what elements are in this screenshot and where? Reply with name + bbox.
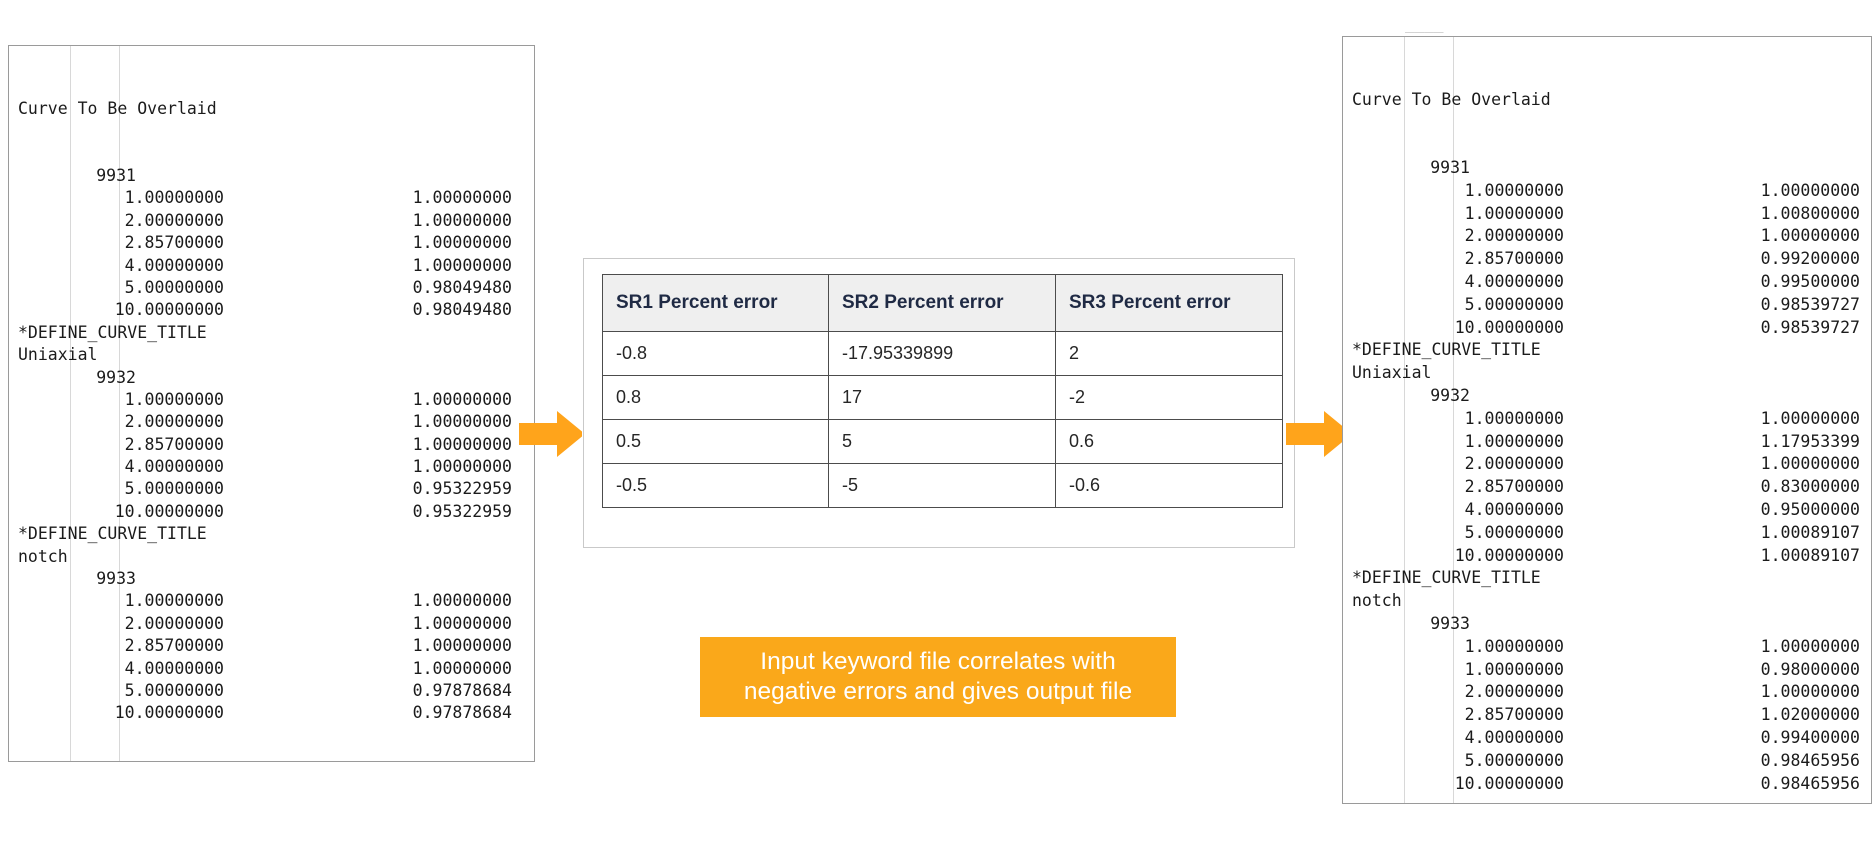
curve-y-value: 1.00089107	[1660, 522, 1860, 545]
table-cell-sr2[interactable]: -17.95339899	[829, 332, 1056, 376]
curve-x-value: 5.00000000	[1352, 294, 1564, 317]
caption-line-2: negative errors and gives output file	[744, 677, 1132, 707]
curve-y-value: 0.99400000	[1660, 727, 1860, 750]
curve-data-row: 2.000000001.00000000	[1352, 453, 1871, 476]
curve-y-value: 1.00000000	[314, 456, 512, 478]
curve-y-value: 0.95000000	[1660, 499, 1860, 522]
table-cell-sr3[interactable]: 0.6	[1056, 420, 1283, 464]
curve-x-value: 2.00000000	[1352, 225, 1564, 248]
curve-data-row: 5.000000001.00089107	[1352, 522, 1871, 545]
curve-x-value: 1.00000000	[1352, 408, 1564, 431]
curve-data-row: 1.000000001.00000000	[1352, 636, 1871, 659]
curve-data-row: 10.000000000.98465956	[1352, 773, 1871, 796]
curve-y-value: 0.98539727	[1660, 317, 1860, 340]
curve-y-value: 1.00000000	[314, 434, 512, 456]
curve-data-row: 1.000000001.00000000	[18, 187, 534, 209]
curve-y-value: 0.83000000	[1660, 476, 1860, 499]
curve-data-row: 1.000000001.17953399	[1352, 431, 1871, 454]
curve-data-row: 2.857000000.83000000	[1352, 476, 1871, 499]
curve-x-value: 4.00000000	[1352, 499, 1564, 522]
curve-id-line: 9933	[1352, 613, 1871, 636]
curve-x-value: 5.00000000	[18, 680, 224, 702]
curve-x-value: 2.00000000	[18, 411, 224, 433]
input-title-line: Curve To Be Overlaid	[18, 98, 534, 120]
curve-x-value: 1.00000000	[18, 389, 224, 411]
curve-x-value: 1.00000000	[1352, 203, 1564, 226]
arrow-right-icon-1	[519, 408, 585, 460]
input-file-text: Curve To Be Overlaid 99311.000000001.000…	[9, 46, 534, 762]
curve-data-row: 2.000000001.00000000	[18, 210, 534, 232]
curve-data-row: 10.000000000.95322959	[18, 501, 534, 523]
curve-y-value: 0.98000000	[1660, 659, 1860, 682]
column-header-sr3[interactable]: SR3 Percent error	[1056, 275, 1283, 332]
curve-x-value: 2.85700000	[1352, 704, 1564, 727]
clipped-text-above-output-panel: ____	[1405, 22, 1525, 35]
output-file-text: Curve To Be Overlaid 99311.000000001.000…	[1343, 37, 1871, 804]
curve-data-row: 5.000000000.98539727	[1352, 294, 1871, 317]
table-cell-sr2[interactable]: 5	[829, 420, 1056, 464]
curve-x-value: 4.00000000	[1352, 271, 1564, 294]
table-cell-sr1[interactable]: -0.5	[603, 464, 829, 508]
curve-x-value: 2.85700000	[18, 434, 224, 456]
curve-x-value: 10.00000000	[18, 501, 224, 523]
curve-y-value: 1.00000000	[314, 187, 512, 209]
curve-y-value: 0.98465956	[1660, 750, 1860, 773]
curve-y-value: 0.97878684	[314, 680, 512, 702]
slide-canvas: Curve To Be Overlaid 99311.000000001.000…	[0, 0, 1872, 842]
table-cell-sr3[interactable]: 2	[1056, 332, 1283, 376]
table-cell-sr1[interactable]: -0.8	[603, 332, 829, 376]
curve-y-value: 0.98049480	[314, 277, 512, 299]
curve-y-value: 1.00000000	[314, 411, 512, 433]
curve-x-value: 2.85700000	[1352, 476, 1564, 499]
curve-id-line: 9932	[1352, 385, 1871, 408]
curve-y-value: 1.00000000	[314, 613, 512, 635]
table-header-row: SR1 Percent error SR2 Percent error SR3 …	[603, 275, 1283, 332]
curve-x-value: 2.00000000	[18, 210, 224, 232]
curve-x-value: 1.00000000	[1352, 180, 1564, 203]
curve-data-row: 4.000000000.95000000	[1352, 499, 1871, 522]
curve-x-value: 1.00000000	[18, 187, 224, 209]
keyword-line: *DEFINE_CURVE_TITLE	[18, 322, 534, 344]
curve-x-value: 1.00000000	[18, 590, 224, 612]
output-keyword-file-panel[interactable]: Curve To Be Overlaid 99311.000000001.000…	[1342, 36, 1872, 804]
curve-x-value: 1.00000000	[1352, 659, 1564, 682]
curve-x-value: 10.00000000	[18, 299, 224, 321]
curve-data-row: 2.857000000.99200000	[1352, 248, 1871, 271]
curve-y-value: 0.97878684	[314, 702, 512, 724]
curve-id-line: 9931	[1352, 157, 1871, 180]
curve-id-line: 9932	[18, 367, 534, 389]
curve-data-row: 5.000000000.97878684	[18, 680, 534, 702]
table-row[interactable]: -0.5-5-0.6	[603, 464, 1283, 508]
curve-y-value: 1.00000000	[314, 255, 512, 277]
curve-y-value: 0.95322959	[314, 501, 512, 523]
curve-y-value: 1.02000000	[1660, 704, 1860, 727]
input-title-text: Curve To Be Overlaid	[18, 99, 217, 118]
table-row[interactable]: -0.8-17.953398992	[603, 332, 1283, 376]
output-title-text: Curve To Be Overlaid	[1352, 90, 1551, 109]
caption-box: Input keyword file correlates with negat…	[700, 637, 1176, 717]
curve-y-value: 0.95322959	[314, 478, 512, 500]
output-title-line: Curve To Be Overlaid	[1352, 89, 1871, 112]
curve-x-value: 1.00000000	[1352, 636, 1564, 659]
curve-y-value: 1.00000000	[1660, 225, 1860, 248]
curve-x-value: 4.00000000	[18, 658, 224, 680]
curve-x-value: 2.85700000	[1352, 248, 1564, 271]
curve-data-row: 5.000000000.98049480	[18, 277, 534, 299]
curve-y-value: 1.00000000	[314, 389, 512, 411]
table-cell-sr3[interactable]: -2	[1056, 376, 1283, 420]
curve-x-value: 10.00000000	[18, 702, 224, 724]
curve-x-value: 2.00000000	[1352, 681, 1564, 704]
curve-y-value: 1.00000000	[314, 658, 512, 680]
curve-data-row: 4.000000000.99500000	[1352, 271, 1871, 294]
curve-data-row: 4.000000000.99400000	[1352, 727, 1871, 750]
curve-data-row: 1.000000001.00000000	[18, 389, 534, 411]
curve-data-row: 5.000000000.98465956	[1352, 750, 1871, 773]
table-cell-sr1[interactable]: 0.8	[603, 376, 829, 420]
curve-data-row: 4.000000001.00000000	[18, 658, 534, 680]
curve-id-line: 9931	[18, 165, 534, 187]
input-keyword-file-panel[interactable]: Curve To Be Overlaid 99311.000000001.000…	[8, 45, 535, 762]
curve-data-row: 2.857000001.02000000	[1352, 704, 1871, 727]
curve-data-row: 2.000000001.00000000	[1352, 681, 1871, 704]
curve-data-row: 2.000000001.00000000	[1352, 225, 1871, 248]
curve-x-value: 5.00000000	[1352, 522, 1564, 545]
curve-data-row: 1.000000001.00800000	[1352, 203, 1871, 226]
keyword-line: *DEFINE_CURVE_TITLE	[18, 523, 534, 545]
curve-data-row: 2.000000001.00000000	[18, 613, 534, 635]
curve-x-value: 5.00000000	[1352, 750, 1564, 773]
curve-x-value: 10.00000000	[1352, 773, 1564, 796]
curve-y-value: 1.00000000	[314, 590, 512, 612]
curve-data-row: 2.857000001.00000000	[18, 635, 534, 657]
curve-y-value: 0.98465956	[1660, 773, 1860, 796]
curve-data-row: 10.000000000.98049480	[18, 299, 534, 321]
curve-data-row: 2.000000001.00000000	[18, 411, 534, 433]
curve-y-value: 0.98049480	[314, 299, 512, 321]
curve-x-value: 4.00000000	[18, 255, 224, 277]
curve-x-value: 10.00000000	[1352, 317, 1564, 340]
curve-data-row: 10.000000000.97878684	[18, 702, 534, 724]
keyword-line: *DEFINE_CURVE_TITLE	[1352, 567, 1871, 590]
curve-y-value: 1.00800000	[1660, 203, 1860, 226]
curve-y-value: 1.00000000	[1660, 408, 1860, 431]
table-cell-sr2[interactable]: -5	[829, 464, 1056, 508]
curve-data-row: 10.000000000.98539727	[1352, 317, 1871, 340]
curve-y-value: 1.00000000	[1660, 681, 1860, 704]
curve-x-value: 2.85700000	[18, 232, 224, 254]
curve-data-row: 1.000000001.00000000	[1352, 180, 1871, 203]
curve-x-value: 2.00000000	[18, 613, 224, 635]
table-cell-sr2[interactable]: 17	[829, 376, 1056, 420]
curve-x-value: 5.00000000	[18, 277, 224, 299]
curve-y-value: 1.00000000	[1660, 636, 1860, 659]
curve-x-value: 10.00000000	[1352, 545, 1564, 568]
curve-data-row: 4.000000001.00000000	[18, 255, 534, 277]
curve-data-row: 1.000000001.00000000	[1352, 408, 1871, 431]
curve-data-row: 5.000000000.95322959	[18, 478, 534, 500]
curve-y-value: 0.99200000	[1660, 248, 1860, 271]
table-row[interactable]: 0.817-2	[603, 376, 1283, 420]
column-header-sr1[interactable]: SR1 Percent error	[603, 275, 829, 332]
curve-x-value: 2.85700000	[18, 635, 224, 657]
table-cell-sr3[interactable]: -0.6	[1056, 464, 1283, 508]
curve-y-value: 1.17953399	[1660, 431, 1860, 454]
curve-data-row: 1.000000000.98000000	[1352, 659, 1871, 682]
curve-title-line: notch	[18, 546, 534, 568]
curve-x-value: 4.00000000	[1352, 727, 1564, 750]
caption-line-1: Input keyword file correlates with	[744, 647, 1132, 677]
curve-x-value: 4.00000000	[18, 456, 224, 478]
keyword-line: *DEFINE_CURVE_TITLE	[1352, 339, 1871, 362]
curve-data-row: 1.000000001.00000000	[18, 590, 534, 612]
curve-data-row: 10.000000001.00089107	[1352, 545, 1871, 568]
curve-y-value: 0.99500000	[1660, 271, 1860, 294]
curve-y-value: 0.98539727	[1660, 294, 1860, 317]
curve-x-value: 5.00000000	[18, 478, 224, 500]
curve-title-line: notch	[1352, 590, 1871, 613]
curve-title-line: Uniaxial	[1352, 362, 1871, 385]
curve-x-value: 1.00000000	[1352, 431, 1564, 454]
curve-y-value: 1.00000000	[314, 232, 512, 254]
table-row[interactable]: 0.550.6	[603, 420, 1283, 464]
curve-data-row: 4.000000001.00000000	[18, 456, 534, 478]
curve-id-line: 9933	[18, 568, 534, 590]
curve-y-value: 1.00089107	[1660, 545, 1860, 568]
curve-data-row: 2.857000001.00000000	[18, 434, 534, 456]
curve-y-value: 1.00000000	[314, 210, 512, 232]
curve-y-value: 1.00000000	[1660, 453, 1860, 476]
curve-y-value: 1.00000000	[314, 635, 512, 657]
curve-y-value: 1.00000000	[1660, 180, 1860, 203]
curve-data-row: 2.857000001.00000000	[18, 232, 534, 254]
curve-title-line: Uniaxial	[18, 344, 534, 366]
table-cell-sr1[interactable]: 0.5	[603, 420, 829, 464]
column-header-sr2[interactable]: SR2 Percent error	[829, 275, 1056, 332]
percent-error-table[interactable]: SR1 Percent error SR2 Percent error SR3 …	[602, 274, 1283, 508]
curve-x-value: 2.00000000	[1352, 453, 1564, 476]
